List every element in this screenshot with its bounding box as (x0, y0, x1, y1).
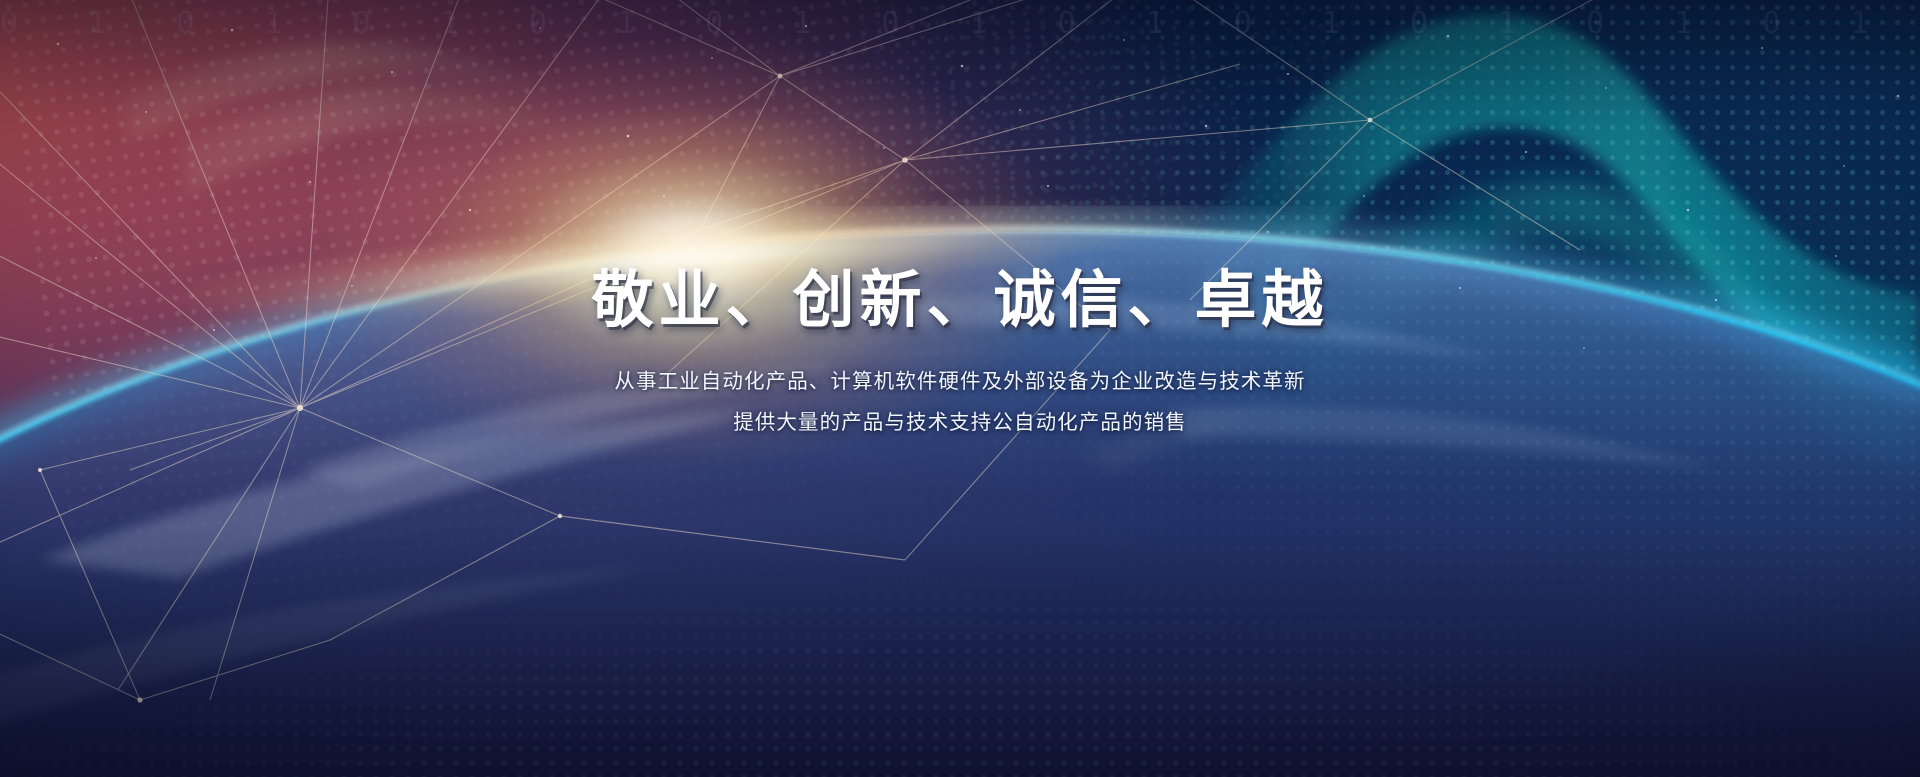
banner-copy: 敬业、创新、诚信、卓越 从事工业自动化产品、计算机软件硬件及外部设备为企业改造与… (0, 268, 1920, 443)
hero-banner: 0 1 0 1 0 1 0 1 0 1 0 1 0 1 0 1 0 1 0 1 … (0, 0, 1920, 777)
banner-subtitle-line-1: 从事工业自动化产品、计算机软件硬件及外部设备为企业改造与技术革新 (0, 361, 1920, 402)
banner-headline: 敬业、创新、诚信、卓越 (0, 268, 1920, 335)
banner-subtitle: 从事工业自动化产品、计算机软件硬件及外部设备为企业改造与技术革新 提供大量的产品… (0, 361, 1920, 443)
binary-decor-strip: 0 1 0 1 0 1 0 1 0 1 0 1 0 1 0 1 0 1 0 1 … (0, 6, 1920, 41)
banner-subtitle-line-2: 提供大量的产品与技术支持公自动化产品的销售 (0, 402, 1920, 443)
